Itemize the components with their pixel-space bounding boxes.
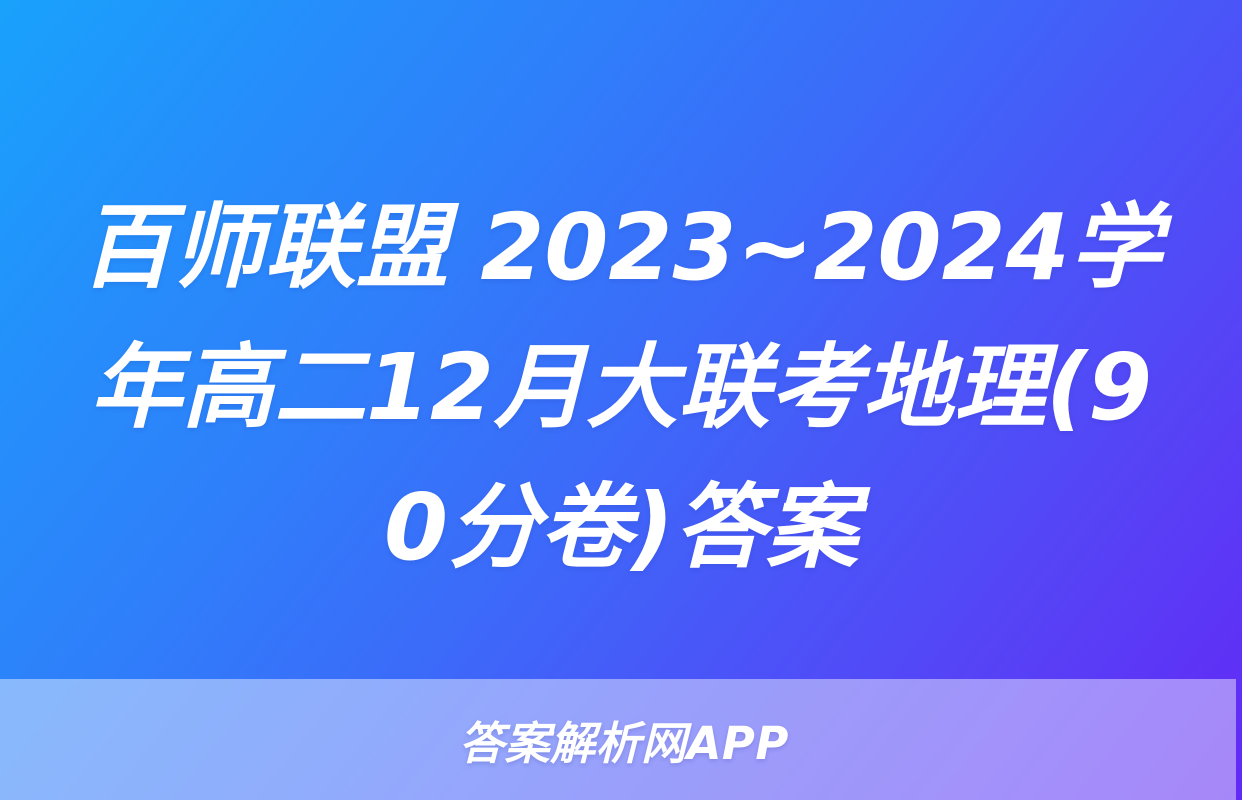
page-title: 百师联盟 2023~2024学年高二12月大联考地理(90分卷)答案 <box>70 178 1172 597</box>
poster-canvas: 百师联盟 2023~2024学年高二12月大联考地理(90分卷)答案 答案解析网… <box>0 0 1242 800</box>
app-watermark: 答案解析网APP <box>0 679 1242 800</box>
